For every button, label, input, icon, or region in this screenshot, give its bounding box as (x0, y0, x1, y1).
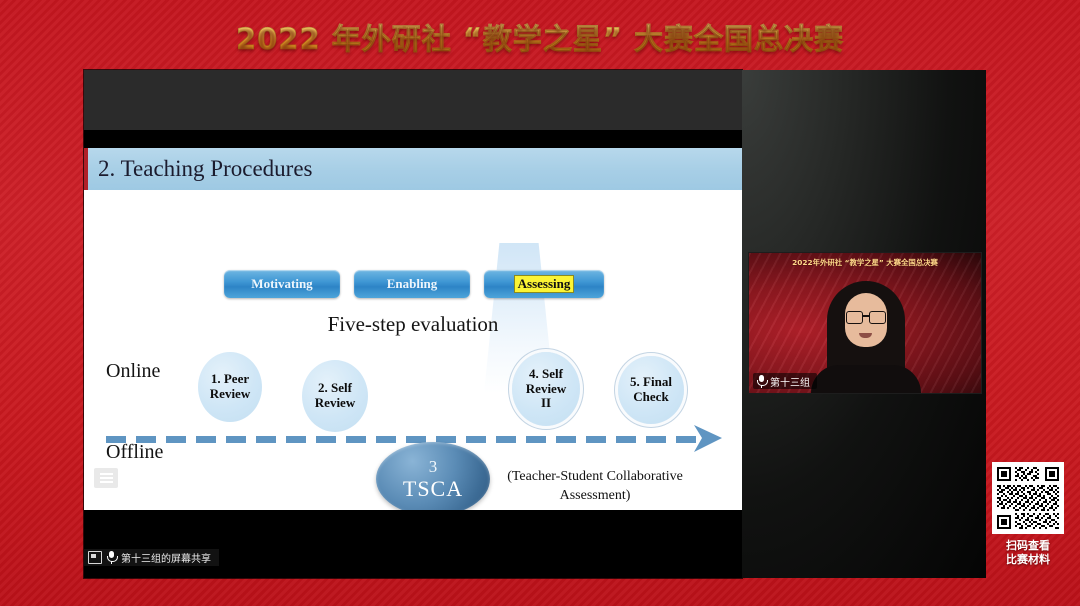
tsca-expansion-text: (Teacher-Student Collaborative Assessmen… (484, 468, 706, 506)
microphone-icon (107, 551, 116, 564)
screen-share-status-text: 第十三组的屏幕共享 (121, 550, 211, 565)
event-title-banner: 2022 年外研社 “教学之星” 大赛全国总决赛 (0, 14, 1080, 60)
step-circle-peer-review[interactable]: 1. PeerReview (198, 352, 262, 422)
notes-icon[interactable] (94, 468, 118, 488)
qr-caption: 扫码查看 比赛材料 (1006, 539, 1050, 567)
mode-label-online: Online (106, 360, 160, 383)
step-circle-final-check[interactable]: 5. FinalCheck (618, 356, 684, 424)
video-background-banner-text: 2022年外研社 “教学之星” 大赛全国总决赛 (758, 257, 971, 267)
glasses-icon (845, 311, 887, 323)
screenshot-stage: 2022 年外研社 “教学之星” 大赛全国总决赛 2. Teaching Pro… (0, 0, 1080, 606)
screen-share-status-bar: 第十三组的屏幕共享 (84, 549, 219, 566)
microphone-icon (757, 375, 766, 388)
process-button-assessing[interactable]: Assessing (484, 270, 604, 298)
step-circle-text: 2. SelfReview (313, 381, 357, 410)
participant-name: 第十三组 (770, 374, 810, 389)
step-circle-text: 5. FinalCheck (628, 375, 674, 404)
event-title-text: 2022 年外研社 “教学之星” 大赛全国总决赛 (236, 16, 844, 58)
step-circle-text: 4. SelfReviewII (524, 367, 568, 411)
participant-nameplate: 第十三组 (753, 373, 817, 389)
qr-caption-line2: 比赛材料 (1006, 553, 1050, 567)
tsca-number: 3 (429, 458, 438, 475)
qr-code-block[interactable]: 扫码查看 比赛材料 (986, 462, 1070, 567)
step-circle-text: 1. PeerReview (208, 372, 252, 401)
step-circle-self-review-ii[interactable]: 4. SelfReviewII (512, 352, 580, 426)
timeline-dashed-line (106, 436, 696, 443)
mode-label-offline: Offline (106, 441, 163, 464)
process-button-label: Motivating (251, 276, 312, 292)
shared-screen-window[interactable]: 2. Teaching Procedures Motivating Enabli… (84, 70, 742, 578)
qr-caption-line1: 扫码查看 (1006, 539, 1050, 553)
process-button-label: Assessing (514, 275, 575, 293)
tsca-abbreviation: TSCA (403, 478, 463, 500)
slide-header: 2. Teaching Procedures (88, 148, 742, 190)
slide-heading: 2. Teaching Procedures (88, 156, 312, 182)
process-button-motivating[interactable]: Motivating (224, 270, 340, 298)
presenter-body (811, 365, 921, 394)
step-circle-self-review[interactable]: 2. SelfReview (302, 360, 368, 432)
share-top-background (84, 70, 742, 130)
letterbox-bottom (84, 510, 742, 578)
process-buttons-row: Motivating Enabling Assessing (224, 270, 604, 300)
section-title: Five-step evaluation (84, 312, 742, 337)
tsca-ellipse[interactable]: 3 TSCA (376, 442, 490, 510)
qr-code-icon[interactable] (992, 462, 1064, 534)
letterbox-top (84, 130, 742, 148)
process-button-enabling[interactable]: Enabling (354, 270, 470, 298)
presentation-slide[interactable]: 2. Teaching Procedures Motivating Enabli… (84, 148, 742, 510)
process-button-label: Enabling (387, 276, 438, 292)
screen-share-icon (88, 551, 102, 564)
participant-video-tile[interactable]: 2022年外研社 “教学之星” 大赛全国总决赛 第十三组 (748, 252, 982, 394)
